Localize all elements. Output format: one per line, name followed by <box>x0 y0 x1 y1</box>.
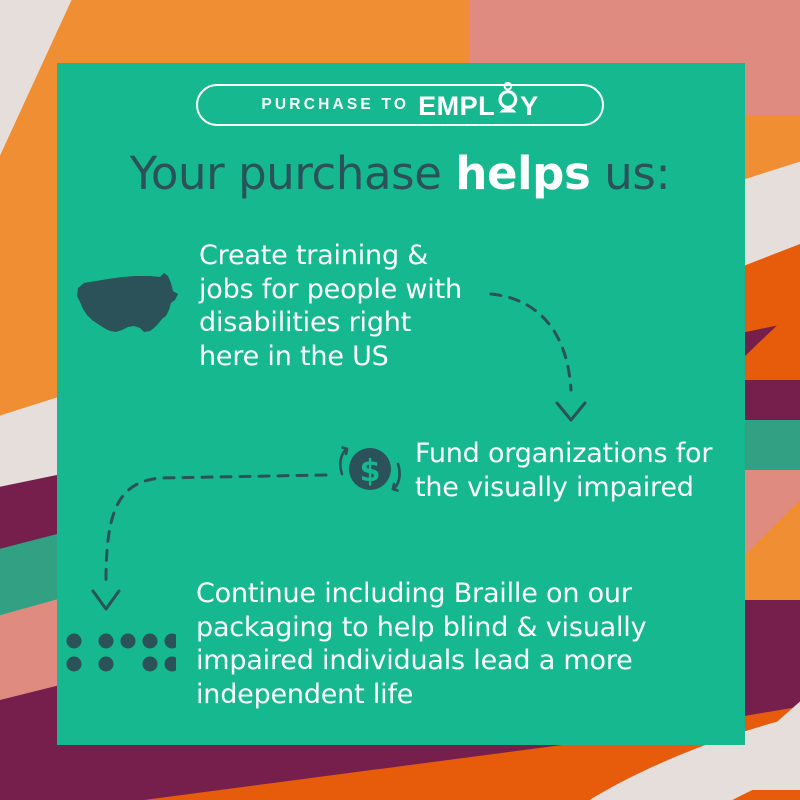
benefit-text-fund: Fund organizations for the visually impa… <box>415 437 735 504</box>
logo-badge-inner: PURCHASE TO EMPL Y <box>261 88 538 122</box>
benefit-line: the visually impaired <box>415 471 735 505</box>
logo-wordmark: EMPL Y <box>418 88 539 122</box>
svg-text:$: $ <box>360 454 381 489</box>
benefit-line: packaging to help blind & visually <box>196 611 666 645</box>
dollar-coin-icon: $ <box>330 440 410 498</box>
benefit-line: jobs for people with <box>199 273 509 307</box>
headline-emphasis: helps <box>455 147 590 200</box>
benefit-line: impaired individuals lead a more <box>196 644 666 678</box>
benefit-text-braille: Continue including Braille on our packag… <box>196 577 666 711</box>
person-o-icon <box>495 88 520 115</box>
logo-wordmark-before: EMPL <box>418 91 495 122</box>
logo-badge: PURCHASE TO EMPL Y <box>196 84 604 126</box>
braille-dots-icon <box>66 633 176 673</box>
benefit-text-jobs: Create training & jobs for people with d… <box>199 239 509 373</box>
logo-small-text: PURCHASE TO <box>261 96 409 114</box>
benefit-line: Create training & <box>199 239 509 273</box>
headline-part2: us: <box>590 147 670 200</box>
benefit-line: Continue including Braille on our <box>196 577 666 611</box>
benefit-line: independent life <box>196 678 666 712</box>
page-title: Your purchase helps us: <box>0 147 800 200</box>
us-map-icon <box>74 270 182 338</box>
benefit-line: disabilities right <box>199 306 509 340</box>
logo-wordmark-after: Y <box>520 91 539 122</box>
benefit-line: here in the US <box>199 340 509 374</box>
headline-part1: Your purchase <box>130 147 456 200</box>
poster: PURCHASE TO EMPL Y Your purchase helps u… <box>0 0 800 800</box>
benefit-line: Fund organizations for <box>415 437 735 471</box>
